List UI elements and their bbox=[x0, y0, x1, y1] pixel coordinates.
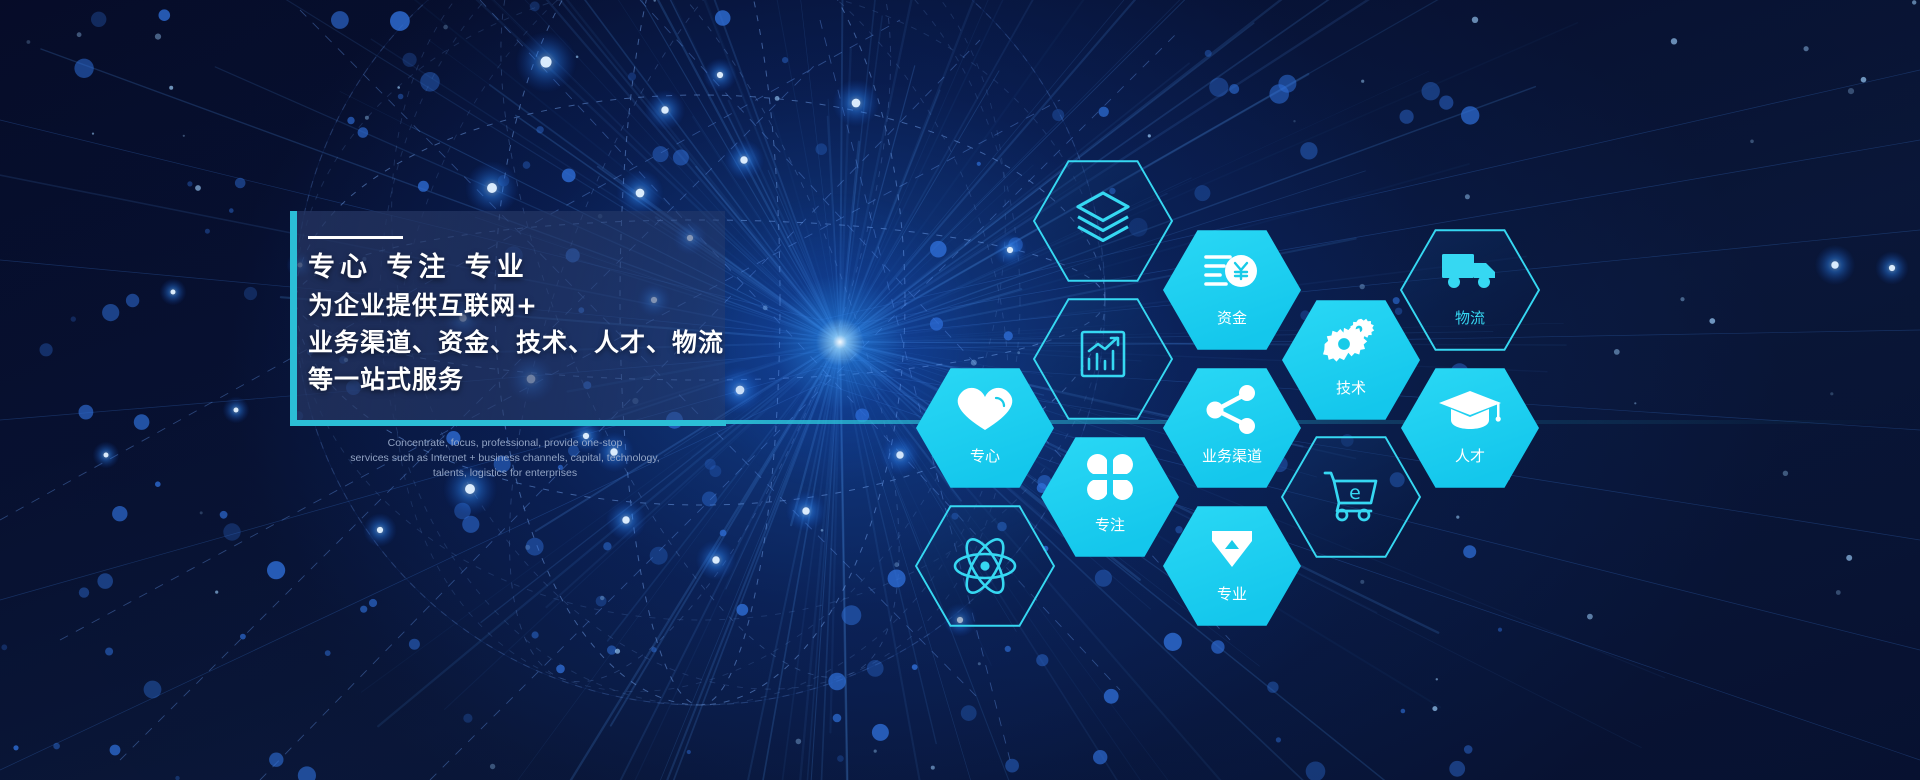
hexagon-shape bbox=[1041, 437, 1179, 557]
hexagon-shape bbox=[1163, 230, 1301, 350]
hexagon-ecommerce[interactable]: e bbox=[1282, 437, 1420, 557]
hexagon-shape bbox=[1282, 300, 1420, 420]
hexagon-label: 业务渠道 bbox=[1202, 447, 1262, 465]
hexagon-logistics[interactable]: 物流 bbox=[1401, 230, 1539, 350]
hexagon-devotion[interactable]: 专心 bbox=[916, 368, 1054, 488]
hexagon-cluster: 资金 技术 物流 bbox=[0, 0, 1920, 780]
hexagon-channels[interactable]: 业务渠道 bbox=[1163, 368, 1301, 488]
hexagon-label: 专注 bbox=[1095, 516, 1125, 534]
hexagon-label: 物流 bbox=[1455, 309, 1485, 327]
hexagon-profession[interactable]: 专业 bbox=[1163, 506, 1301, 626]
hexagon-label: 人才 bbox=[1455, 447, 1485, 465]
svg-text:e: e bbox=[1349, 482, 1361, 504]
hexagon-capital[interactable]: 资金 bbox=[1163, 230, 1301, 350]
hexagon-focus[interactable]: 专注 bbox=[1041, 437, 1179, 557]
hexagon-shape bbox=[1034, 299, 1172, 419]
hexagon-talents[interactable]: 人才 bbox=[1401, 368, 1539, 488]
hexagon-label: 技术 bbox=[1336, 379, 1366, 397]
hexagon-chart[interactable] bbox=[1034, 299, 1172, 419]
hexagon-atom[interactable] bbox=[916, 506, 1054, 626]
hexagon-layers[interactable] bbox=[1034, 161, 1172, 281]
hexagon-label: 资金 bbox=[1217, 309, 1247, 327]
hexagon-tech[interactable]: 技术 bbox=[1282, 300, 1420, 420]
hexagon-label: 专心 bbox=[970, 447, 1000, 465]
hexagon-shape bbox=[1401, 230, 1539, 350]
hero-banner: 专心 专注 专业 为企业提供互联网+ 业务渠道、资金、技术、人才、物流 等一站式… bbox=[0, 0, 1920, 780]
hexagon-label: 专业 bbox=[1217, 585, 1247, 603]
hexagon-shape bbox=[1163, 368, 1301, 488]
